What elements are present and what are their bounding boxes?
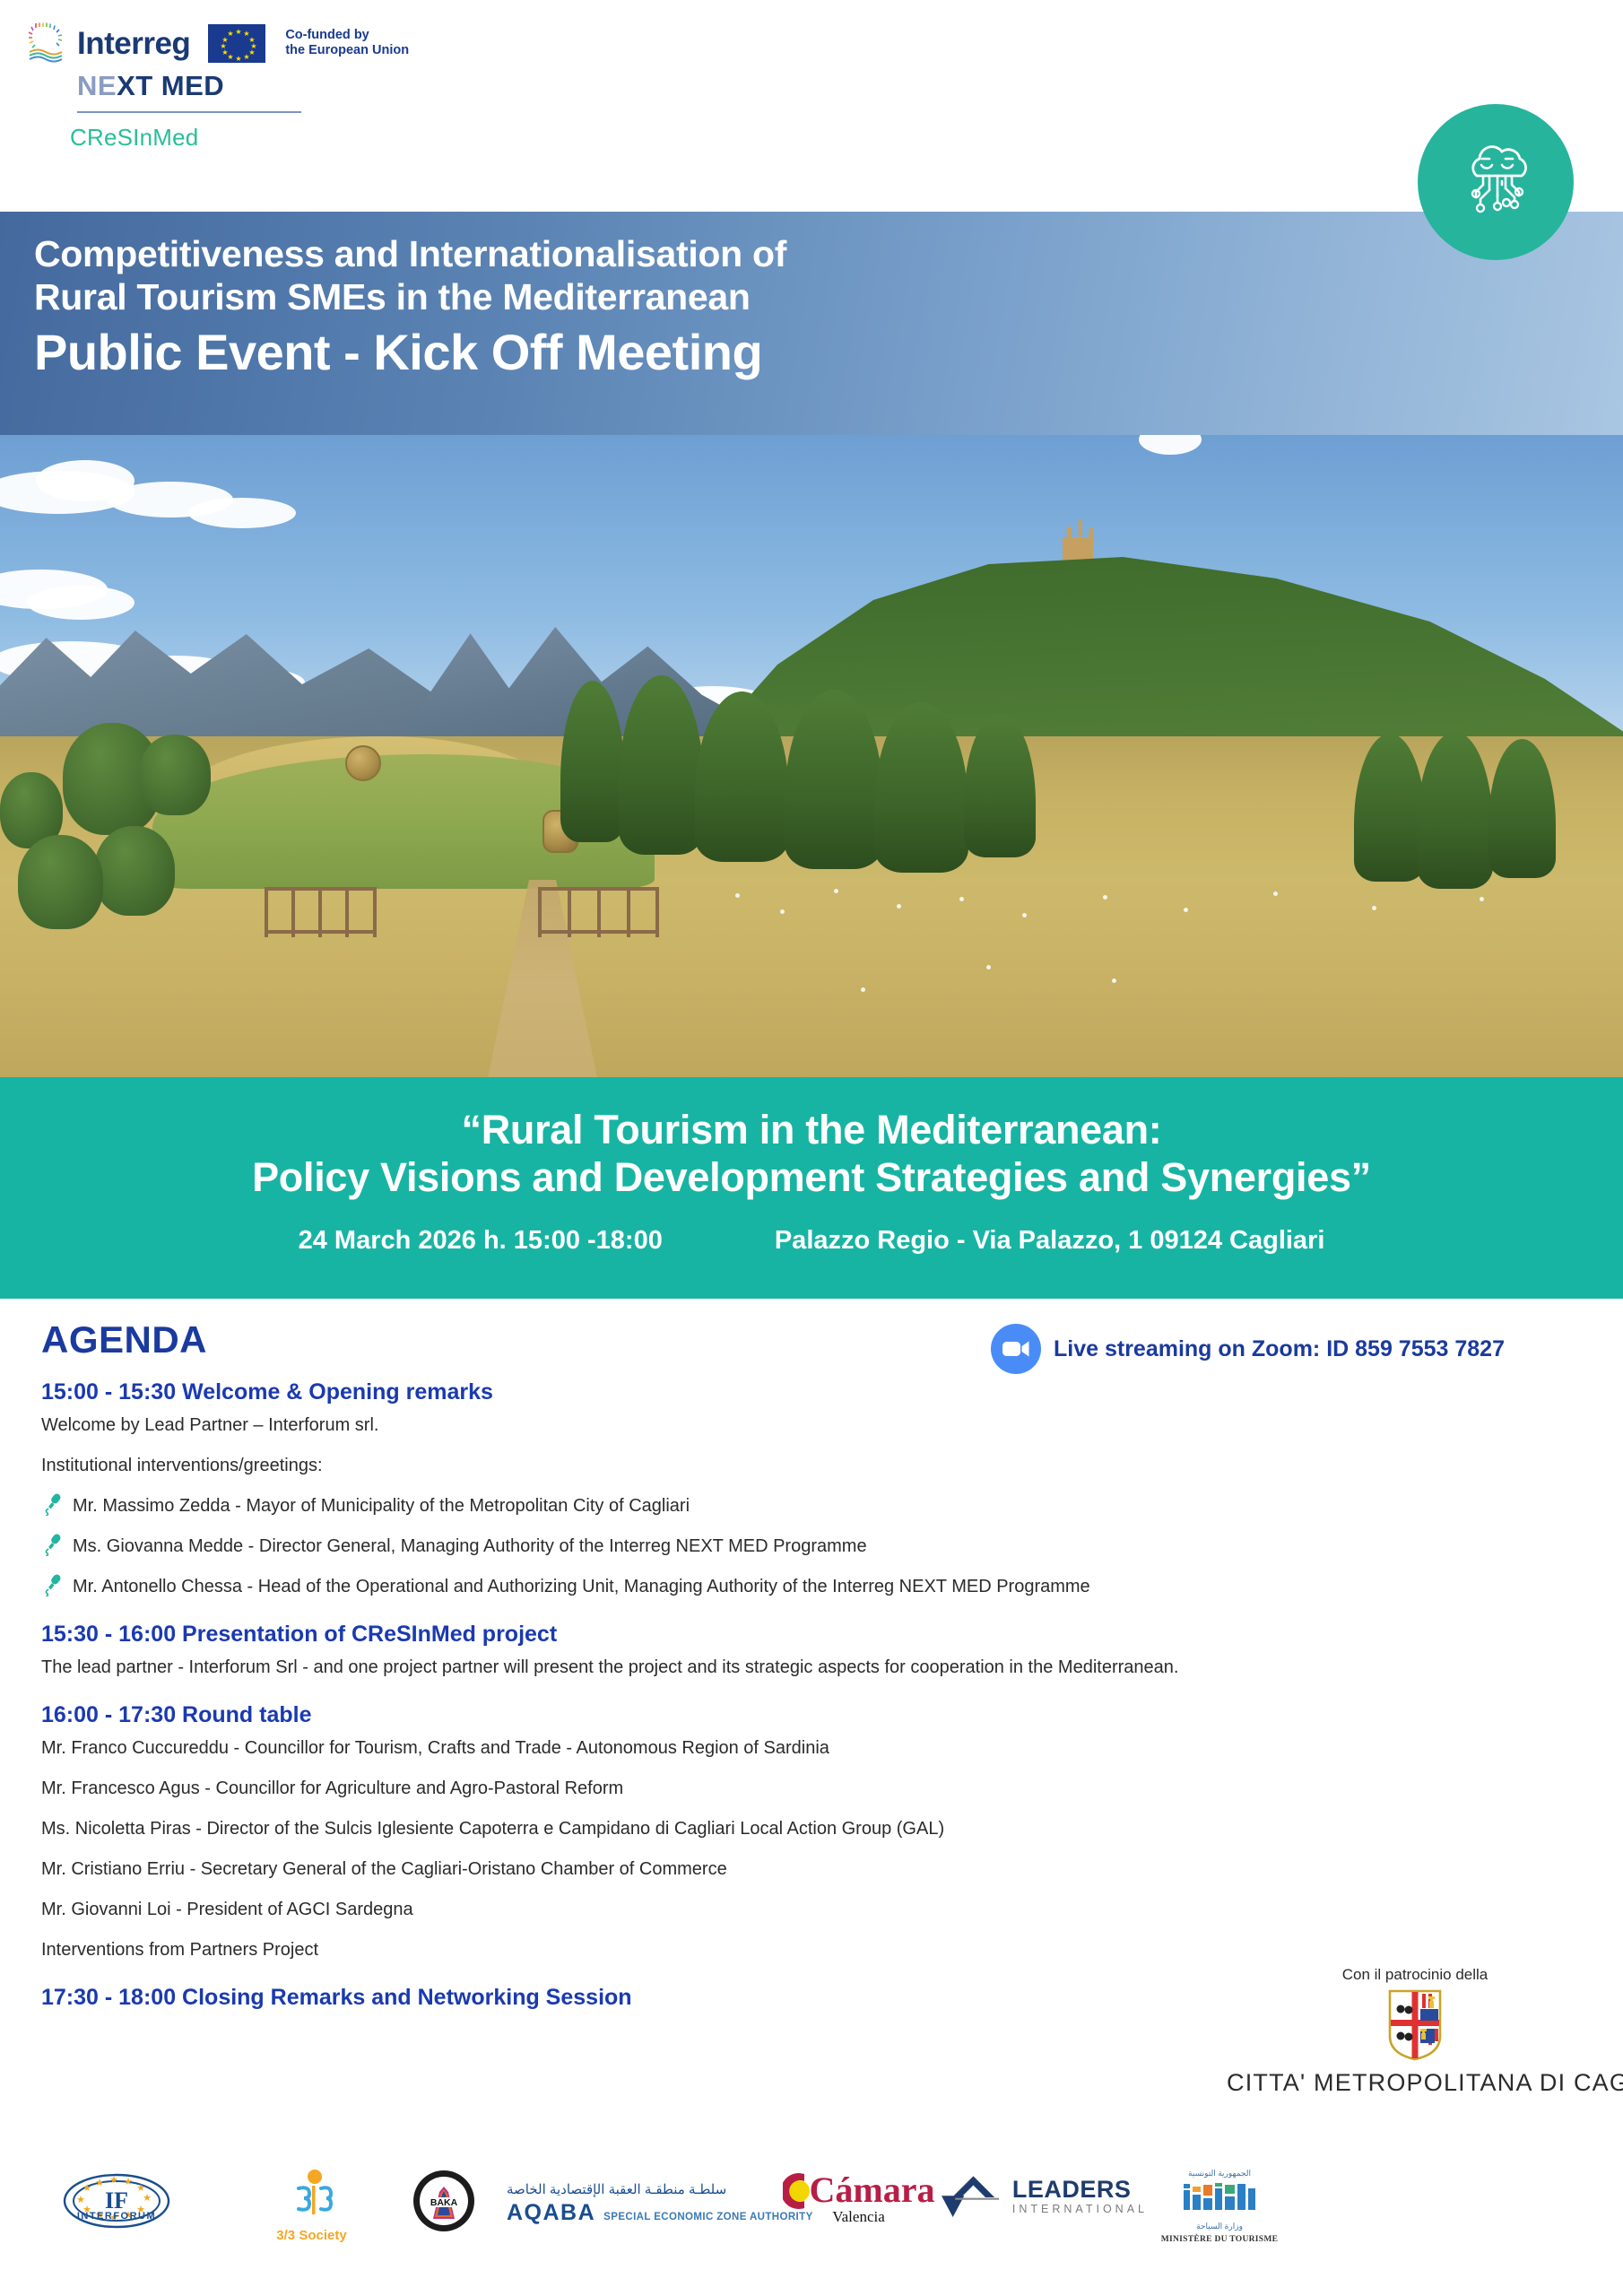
- subtitle-teal-banner: “Rural Tourism in the Mediterranean: Pol…: [0, 1077, 1623, 1299]
- three-thirds-society-logo: 3/3 Society: [233, 2169, 390, 2243]
- hay-bale: [345, 745, 381, 781]
- nextmed-rest-part: XT MED: [117, 70, 224, 101]
- cloud-circuit-badge: [1418, 104, 1574, 260]
- three-thirds-society-caption: 3/3 Society: [276, 2228, 346, 2243]
- patronage-label: Con il patrocinio della: [1227, 1966, 1603, 1984]
- patronage-block: Con il patrocinio della: [1227, 1966, 1603, 2097]
- title-banner: Competitiveness and Internationalisation…: [0, 212, 1623, 435]
- tunisia-emblem-icon: [1182, 2181, 1257, 2219]
- eu-funding-text: Co-funded by the European Union: [285, 28, 409, 59]
- poster-root: Interreg ★ ★ ★ ★ ★ ★ ★ ★ ★ ★ ★ ★ Co-fund…: [0, 0, 1623, 2296]
- event-date: 24 March 2026 h. 15:00 -18:00: [299, 1226, 663, 1256]
- camara-c-icon: [783, 2169, 813, 2212]
- svg-text:★: ★: [124, 2177, 133, 2187]
- microphone-icon: [41, 1533, 63, 1556]
- camara-valencia-logo: Cámara Valencia: [776, 2169, 942, 2226]
- hero-landscape-photo: [0, 435, 1623, 1077]
- agenda-speaker-text: Ms. Giovanna Medde - Director General, M…: [73, 1535, 867, 1558]
- svg-text:★: ★: [76, 2195, 85, 2205]
- cloud: [188, 498, 296, 528]
- tunisia-republic-arabic: الجمهورية التونسية: [1188, 2169, 1251, 2179]
- svg-text:★: ★: [82, 2183, 91, 2194]
- eu-flag-icon: ★ ★ ★ ★ ★ ★ ★ ★ ★ ★ ★ ★: [208, 24, 265, 63]
- agenda-speaker-text: Mr. Massimo Zedda - Mayor of Municipalit…: [73, 1494, 690, 1518]
- leaders-wordmark: LEADERS: [1012, 2178, 1148, 2202]
- nextmed-wordmark: NEXT MED: [77, 70, 493, 102]
- cresinmed-wordmark: CReSInMed: [70, 124, 493, 152]
- tree: [139, 735, 211, 815]
- tunisia-ministry-tourism-logo: الجمهورية التونسية وزارة السياحة MINISTÈ…: [1148, 2169, 1291, 2244]
- tree: [18, 835, 103, 929]
- aqaba-arabic-text: سلطـة منطقـة العقبة الإقتصادية الخاصة: [507, 2181, 813, 2197]
- agenda-speaker-text: Mr. Antonello Chessa - Head of the Opera…: [73, 1575, 1090, 1598]
- microphone-icon: [41, 1573, 63, 1596]
- svg-text:BAKA: BAKA: [430, 2197, 458, 2208]
- agenda-speaker-item: Mr. Antonello Chessa - Head of the Opera…: [41, 1575, 1566, 1598]
- leaders-caption: INTERNATIONAL: [1012, 2202, 1148, 2218]
- partner-logos-bar: IF ★★ ★★ ★★ ★★ ★★ ★★ INTERFORUM 3/3: [0, 2152, 1623, 2296]
- event-venue: Palazzo Regio - Via Palazzo, 1 09124 Cag…: [775, 1226, 1325, 1256]
- agenda-line: Mr. Giovanni Loi - President of AGCI Sar…: [41, 1898, 1566, 1921]
- header-divider: [77, 111, 301, 113]
- interreg-wordmark: Interreg: [77, 28, 190, 59]
- agenda-line: The lead partner - Interforum Srl - and …: [41, 1656, 1566, 1679]
- aqaba-sez-logo: سلطـة منطقـة العقبة الإقتصادية الخاصة AQ…: [498, 2169, 776, 2239]
- svg-text:• 2009 •: • 2009 •: [435, 2221, 452, 2226]
- sardinia-coat-of-arms-icon: [1386, 1989, 1444, 2061]
- agenda-speaker-item: Mr. Massimo Zedda - Mayor of Municipalit…: [41, 1494, 1566, 1518]
- tunisia-ministry-arabic: وزارة السياحة: [1196, 2222, 1243, 2231]
- agenda-line: Institutional interventions/greetings:: [41, 1454, 1566, 1477]
- agenda-speaker-item: Ms. Giovanna Medde - Director General, M…: [41, 1535, 1566, 1558]
- agenda-section-head: 16:00 - 17:30 Round table: [41, 1702, 1566, 1728]
- agenda-line: Mr. Cristiano Erriu - Secretary General …: [41, 1857, 1566, 1881]
- interreg-top-row: Interreg ★ ★ ★ ★ ★ ★ ★ ★ ★ ★ ★ ★ Co-fund…: [27, 20, 493, 66]
- zoom-id-label: Live streaming on Zoom: ID 859 7553 7827: [1054, 1336, 1505, 1362]
- video-camera-icon: [991, 1324, 1041, 1374]
- aqaba-wordmark: AQABA: [507, 2200, 595, 2226]
- subtitle-line2: Policy Visions and Development Strategie…: [0, 1153, 1623, 1201]
- eu-funding-line1: Co-funded by: [285, 28, 409, 43]
- event-title-line3: Public Event - Kick Off Meeting: [34, 325, 1623, 381]
- leaders-international-logo: LEADERS INTERNATIONAL: [942, 2169, 1148, 2226]
- event-meta-row: 24 March 2026 h. 15:00 -18:00 Palazzo Re…: [0, 1226, 1623, 1256]
- camara-wordmark: Cámara: [810, 2174, 935, 2206]
- fence-left: [265, 887, 377, 934]
- agenda-heading: AGENDA: [41, 1318, 207, 1361]
- cloud-circuit-icon: [1446, 133, 1545, 231]
- svg-text:INTERFORUM: INTERFORUM: [77, 2211, 156, 2222]
- interreg-logo-block: Interreg ★ ★ ★ ★ ★ ★ ★ ★ ★ ★ ★ ★ Co-fund…: [27, 20, 493, 152]
- eu-funding-line2: the European Union: [285, 43, 409, 58]
- event-title-line2: Rural Tourism SMEs in the Mediterranean: [34, 276, 1623, 319]
- leaders-mountain-icon: [942, 2169, 1005, 2226]
- fence-right: [538, 887, 659, 934]
- microphone-icon: [41, 1492, 63, 1516]
- interforum-logo: IF ★★ ★★ ★★ ★★ ★★ ★★ INTERFORUM: [0, 2169, 233, 2233]
- subtitle-line1: “Rural Tourism in the Mediterranean:: [0, 1106, 1623, 1153]
- baka-logo: BAKA • 2009 •: [390, 2169, 498, 2233]
- tunisia-ministry-caption: MINISTÈRE DU TOURISME: [1161, 2235, 1279, 2244]
- svg-text:★: ★: [109, 2175, 118, 2186]
- svg-text:★: ★: [95, 2178, 104, 2188]
- agenda-line: Welcome by Lead Partner – Interforum srl…: [41, 1413, 1566, 1437]
- agenda-line: Interventions from Partners Project: [41, 1938, 1566, 1961]
- zoom-streaming-info[interactable]: Live streaming on Zoom: ID 859 7553 7827: [991, 1324, 1505, 1374]
- event-title-line1: Competitiveness and Internationalisation…: [34, 233, 1623, 276]
- cloud: [27, 586, 135, 620]
- agenda-items-list: 15:00 - 15:30 Welcome & Opening remarks …: [41, 1379, 1566, 2019]
- nextmed-faded-part: NE: [77, 70, 117, 101]
- agenda-section-head: 15:30 - 16:00 Presentation of CReSInMed …: [41, 1622, 1566, 1648]
- camara-valencia-caption: Valencia: [832, 2208, 885, 2226]
- agenda-line: Mr. Franco Cuccureddu - Councillor for T…: [41, 1736, 1566, 1760]
- agenda-line: Ms. Nicoletta Piras - Director of the Su…: [41, 1817, 1566, 1840]
- interreg-swirl-icon: [27, 22, 65, 64]
- tree: [94, 826, 175, 916]
- agenda-section-head: 15:00 - 15:30 Welcome & Opening remarks: [41, 1379, 1566, 1405]
- logo-bar: Interreg ★ ★ ★ ★ ★ ★ ★ ★ ★ ★ ★ ★ Co-fund…: [0, 0, 1623, 212]
- patronage-entity-name: CITTA' METROPOLITANA DI CAGLIARI: [1227, 2069, 1603, 2097]
- agenda-line: Mr. Francesco Agus - Councillor for Agri…: [41, 1777, 1566, 1800]
- svg-text:★: ★: [143, 2193, 152, 2204]
